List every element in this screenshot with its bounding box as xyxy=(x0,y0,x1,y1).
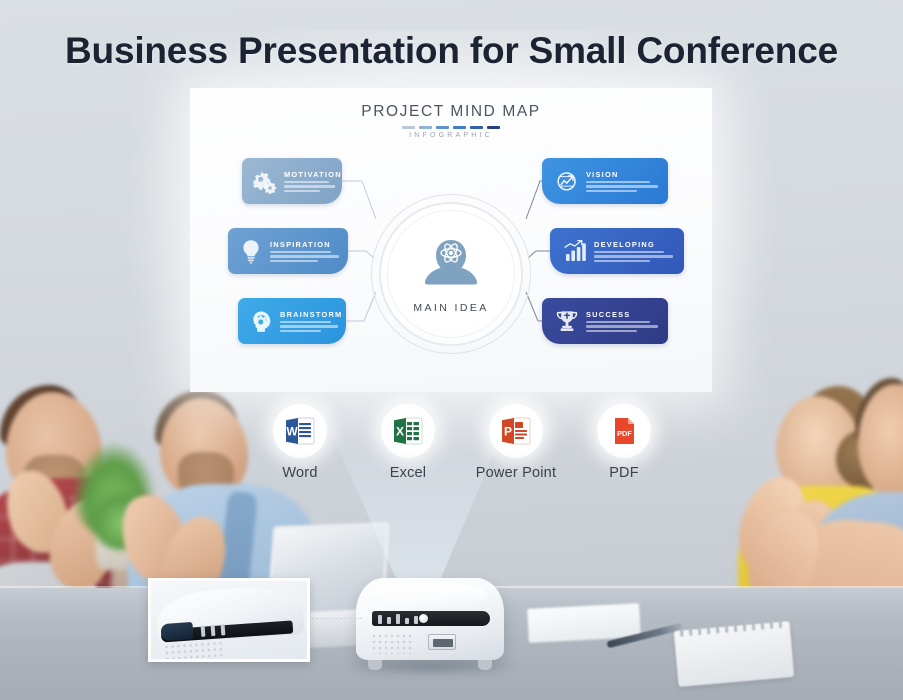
pdf-file-icon: PDF xyxy=(607,414,641,448)
mindmap-card-motivation[interactable]: MOTIVATION xyxy=(242,158,342,204)
card-title: SUCCESS xyxy=(586,310,668,319)
format-label: Word xyxy=(282,465,317,481)
mindmap-card-vision[interactable]: VISION xyxy=(542,158,668,204)
lightbulb-icon xyxy=(238,238,264,264)
svg-text:P: P xyxy=(504,425,512,439)
mindmap-title: PROJECT MIND MAP xyxy=(190,103,712,121)
format-label: Excel xyxy=(390,465,426,481)
mindmap-card-developing[interactable]: DEVELOPING xyxy=(550,228,684,274)
projector-device xyxy=(356,578,504,674)
brain-gear-icon xyxy=(248,308,274,334)
card-title: VISION xyxy=(586,170,668,179)
bar-chart-icon xyxy=(562,238,588,264)
target-arrow-icon xyxy=(554,168,580,194)
mindmap-card-inspiration[interactable]: INSPIRATION xyxy=(228,228,348,274)
powerpoint-file-icon: P xyxy=(499,414,533,448)
presentation-scene: PROJECT MIND MAP INFOGRAPHIC xyxy=(0,0,903,700)
projector-top-highlight xyxy=(372,582,488,608)
format-item-excel[interactable]: X Excel xyxy=(360,404,456,484)
projection-screen: PROJECT MIND MAP INFOGRAPHIC xyxy=(190,88,712,392)
projector-ports-closeup-inset xyxy=(148,578,310,662)
page-title: Business Presentation for Small Conferen… xyxy=(0,30,903,72)
card-body-lines xyxy=(586,181,668,192)
excel-file-icon: X xyxy=(391,414,425,448)
svg-text:W: W xyxy=(286,425,298,439)
format-label: PDF xyxy=(609,465,639,481)
trophy-icon xyxy=(554,308,580,334)
format-label: Power Point xyxy=(476,465,556,481)
supported-formats-row: W Word xyxy=(252,404,672,484)
mindmap-divider-dashes xyxy=(402,126,500,129)
format-item-powerpoint[interactable]: P Power Point xyxy=(468,404,564,484)
projector-ports xyxy=(378,614,418,624)
card-body-lines xyxy=(586,321,668,332)
gears-icon xyxy=(252,168,278,194)
projector-body xyxy=(356,578,504,660)
card-title: BRAINSTORM xyxy=(280,310,346,319)
projector-power-socket xyxy=(428,634,456,650)
card-body-lines xyxy=(594,251,684,262)
card-title: INSPIRATION xyxy=(270,240,348,249)
inset-leader-line xyxy=(306,618,362,619)
word-file-icon: W xyxy=(283,414,317,448)
card-title: DEVELOPING xyxy=(594,240,684,249)
format-icon-badge: W xyxy=(273,404,327,458)
card-body-lines xyxy=(284,181,342,192)
mindmap-card-success[interactable]: SUCCESS xyxy=(542,298,668,344)
card-body-lines xyxy=(270,251,348,262)
projector-indicator-light xyxy=(419,614,428,623)
svg-text:X: X xyxy=(396,425,404,439)
format-item-pdf[interactable]: PDF PDF xyxy=(576,404,672,484)
svg-text:PDF: PDF xyxy=(617,429,632,438)
format-icon-badge: X xyxy=(381,404,435,458)
format-icon-badge: PDF xyxy=(597,404,651,458)
closeup-speaker-grille xyxy=(164,641,225,662)
closeup-connector-plug xyxy=(160,622,193,641)
mindmap-subtitle: INFOGRAPHIC xyxy=(190,132,712,139)
format-item-word[interactable]: W Word xyxy=(252,404,348,484)
mindmap-card-brainstorm[interactable]: BRAINSTORM xyxy=(238,298,346,344)
card-body-lines xyxy=(280,321,346,332)
closeup-port-pins xyxy=(201,624,226,637)
head-with-atom-icon xyxy=(420,234,482,301)
card-title: MOTIVATION xyxy=(284,170,342,179)
projector-speaker-grille xyxy=(372,634,414,654)
format-icon-badge: P xyxy=(489,404,543,458)
